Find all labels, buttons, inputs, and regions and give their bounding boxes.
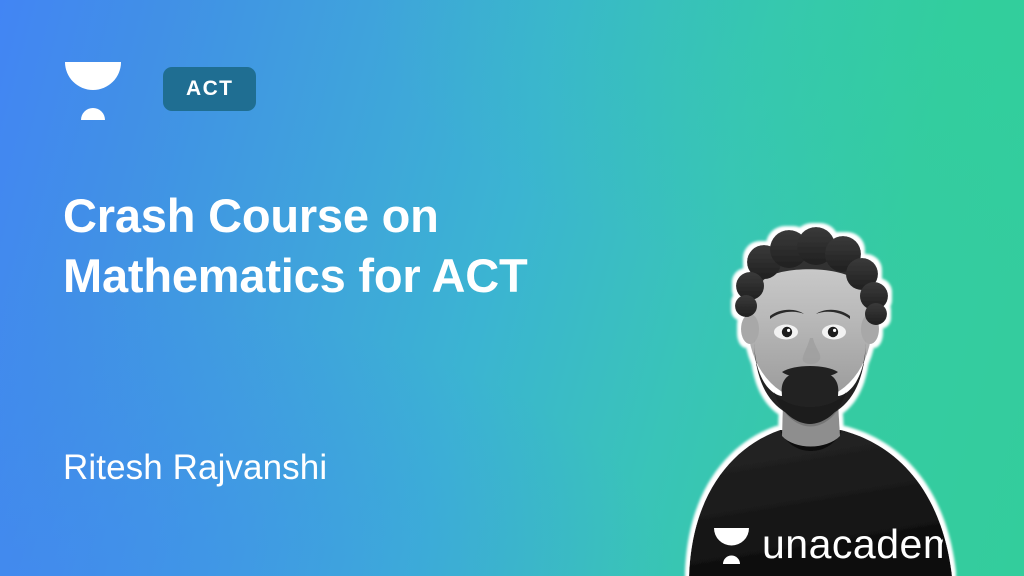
course-thumbnail-card: ACT Crash Course on Mathematics for ACT … [0, 0, 1024, 576]
header: ACT [63, 58, 256, 120]
exam-badge-act: ACT [163, 67, 256, 111]
educator-portrait: unacademy [594, 196, 1024, 576]
educator-name: Ritesh Rajvanshi [63, 447, 327, 489]
page-title: Crash Course on Mathematics for ACT [63, 186, 663, 306]
unacademy-cup-logo-icon [63, 58, 123, 120]
